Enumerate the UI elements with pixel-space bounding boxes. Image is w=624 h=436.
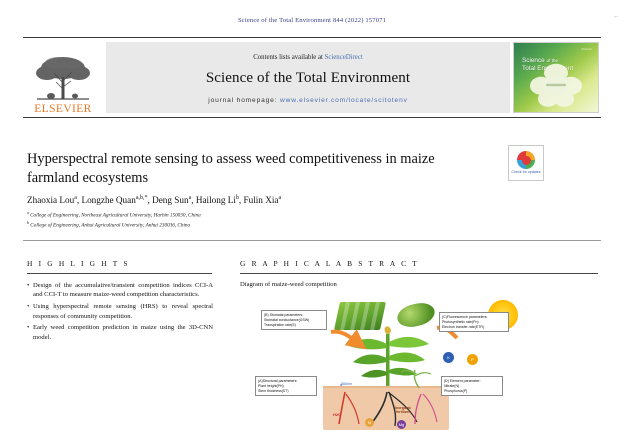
author-name: Longzhe Quan — [81, 195, 135, 205]
author-name: Zhaoxia Lou — [27, 195, 74, 205]
journal-cover-thumbnail: Elsevier Science of the Total Environmen… — [513, 42, 599, 113]
author-list: Zhaoxia Loua, Longzhe Quana,b,*, Deng Su… — [27, 195, 507, 205]
label-box-structural-parameters: (A)Structural parameters: Plant height(P… — [255, 376, 317, 396]
author-item: Longzhe Quana,b,* — [81, 195, 147, 205]
highlight-text: Early weed competition prediction in mai… — [33, 323, 213, 342]
highlights-list: • Design of the accumulative/transient c… — [27, 281, 213, 345]
fertilizer-line2: fertilizer — [396, 410, 410, 414]
highlight-item: • Using hyperspectral remote sensing (HR… — [27, 302, 213, 321]
graphical-abstract-caption: Diagram of maize-weed competition — [240, 281, 337, 288]
contents-available-line: Contents lists available at ScienceDirec… — [253, 54, 362, 61]
magnesium-ion-icon: Mg — [397, 420, 406, 429]
affiliation-list: a College of Engineering, Northeast Agri… — [27, 210, 427, 230]
author-item: Deng Suna — [152, 195, 191, 205]
potassium-ion-icon: K — [443, 352, 454, 363]
author-name: Deng Sun — [152, 195, 189, 205]
running-head: Science of the Total Environment 844 (20… — [0, 17, 624, 24]
journal-title: Science of the Total Environment — [206, 70, 410, 87]
graphical-abstract-heading: G R A P H I C A L A B S T R A C T — [240, 259, 419, 268]
cover-flower-graphic — [528, 60, 584, 108]
affiliation-mark: a — [27, 210, 29, 215]
homepage-prefix: journal homepage: — [208, 97, 280, 104]
nitrogen-ion-icon: N — [365, 418, 374, 427]
author-affil-mark: a — [189, 195, 192, 201]
crossmark-badge[interactable]: Check for updates — [508, 145, 544, 181]
water-label: H2O — [333, 412, 341, 417]
wavelength-label: 550nm — [341, 382, 352, 386]
masthead-center: Contents lists available at ScienceDirec… — [106, 42, 510, 113]
label-box-fluorescence-parameters: (C)Fluorescence parameters: Photosynthet… — [439, 312, 509, 332]
highlight-text: Using hyperspectral remote sensing (HRS)… — [33, 302, 213, 321]
sciencedirect-link[interactable]: ScienceDirect — [325, 54, 363, 61]
affiliation-text: College of Engineering, Anhui Agricultur… — [30, 223, 190, 229]
contents-prefix: Contents lists available at — [253, 54, 324, 61]
author-affil-mark: a,b,* — [136, 195, 148, 201]
article-title: Hyperspectral remote sensing to assess w… — [27, 150, 482, 188]
affiliation-mark: b — [27, 220, 29, 225]
affiliation-item: b College of Engineering, Anhui Agricult… — [27, 220, 427, 230]
box-d-line2: Phosphorus(P) — [444, 389, 500, 394]
author-name: Fulin Xia — [244, 195, 279, 205]
affiliation-item: a College of Engineering, Northeast Agri… — [27, 210, 427, 220]
author-affil-mark: a — [278, 195, 281, 201]
author-name: Hailong Li — [196, 195, 236, 205]
highlights-underline — [27, 273, 212, 274]
journal-masthead: ELSEVIER Contents lists available at Sci… — [23, 37, 601, 118]
elsevier-tree-icon — [27, 51, 99, 103]
label-box-stomatal-parameters: (B) Stomatal parameters: Stomatal conduc… — [261, 310, 327, 330]
highlights-heading: H I G H L I G H T S — [27, 259, 130, 268]
journal-homepage-line: journal homepage: www.elsevier.com/locat… — [208, 97, 408, 104]
affiliation-text: College of Engineering, Northeast Agricu… — [30, 213, 201, 219]
box-b-line2: Transpiration rate(E) — [264, 323, 324, 328]
highlight-item: • Early weed competition prediction in m… — [27, 323, 213, 342]
author-affil-mark: b — [236, 195, 239, 201]
section-divider — [23, 240, 601, 241]
author-item: Zhaoxia Loua — [27, 195, 77, 205]
graphical-abstract-underline — [240, 273, 598, 274]
author-affil-mark: a — [74, 195, 77, 201]
label-box-element-parameters: (D) Element parameter: Nitrate(N) Phosph… — [441, 376, 503, 396]
highlight-item: • Design of the accumulative/transient c… — [27, 281, 213, 300]
page-corner-mark: ⌐ — [615, 14, 618, 20]
author-item: Fulin Xiaa — [244, 195, 282, 205]
highlight-text: Design of the accumulative/transient com… — [33, 281, 213, 300]
phosphorus-ion-icon: P — [467, 354, 478, 365]
box-a-line2: Stem thickness(ST) — [258, 389, 314, 394]
crossmark-icon — [517, 151, 535, 169]
elsevier-logo: ELSEVIER — [23, 38, 103, 117]
author-item: Hailong Lib — [196, 195, 239, 205]
elsevier-wordmark: ELSEVIER — [34, 104, 92, 116]
homepage-url-link[interactable]: www.elsevier.com/locate/scitotenv — [280, 97, 408, 104]
fertilizer-label: Inorganic fertilizer — [395, 406, 411, 415]
graphical-abstract-figure: 550nm H2O Inorganic fertilizer K P N Mg … — [245, 296, 600, 430]
box-c-line2: Electron transfer rate(ETR) — [442, 325, 506, 330]
article-first-page: Science of the Total Environment 844 (20… — [0, 0, 624, 436]
crossmark-label: Check for updates — [511, 170, 540, 174]
cover-publisher-note: Elsevier — [582, 47, 592, 51]
